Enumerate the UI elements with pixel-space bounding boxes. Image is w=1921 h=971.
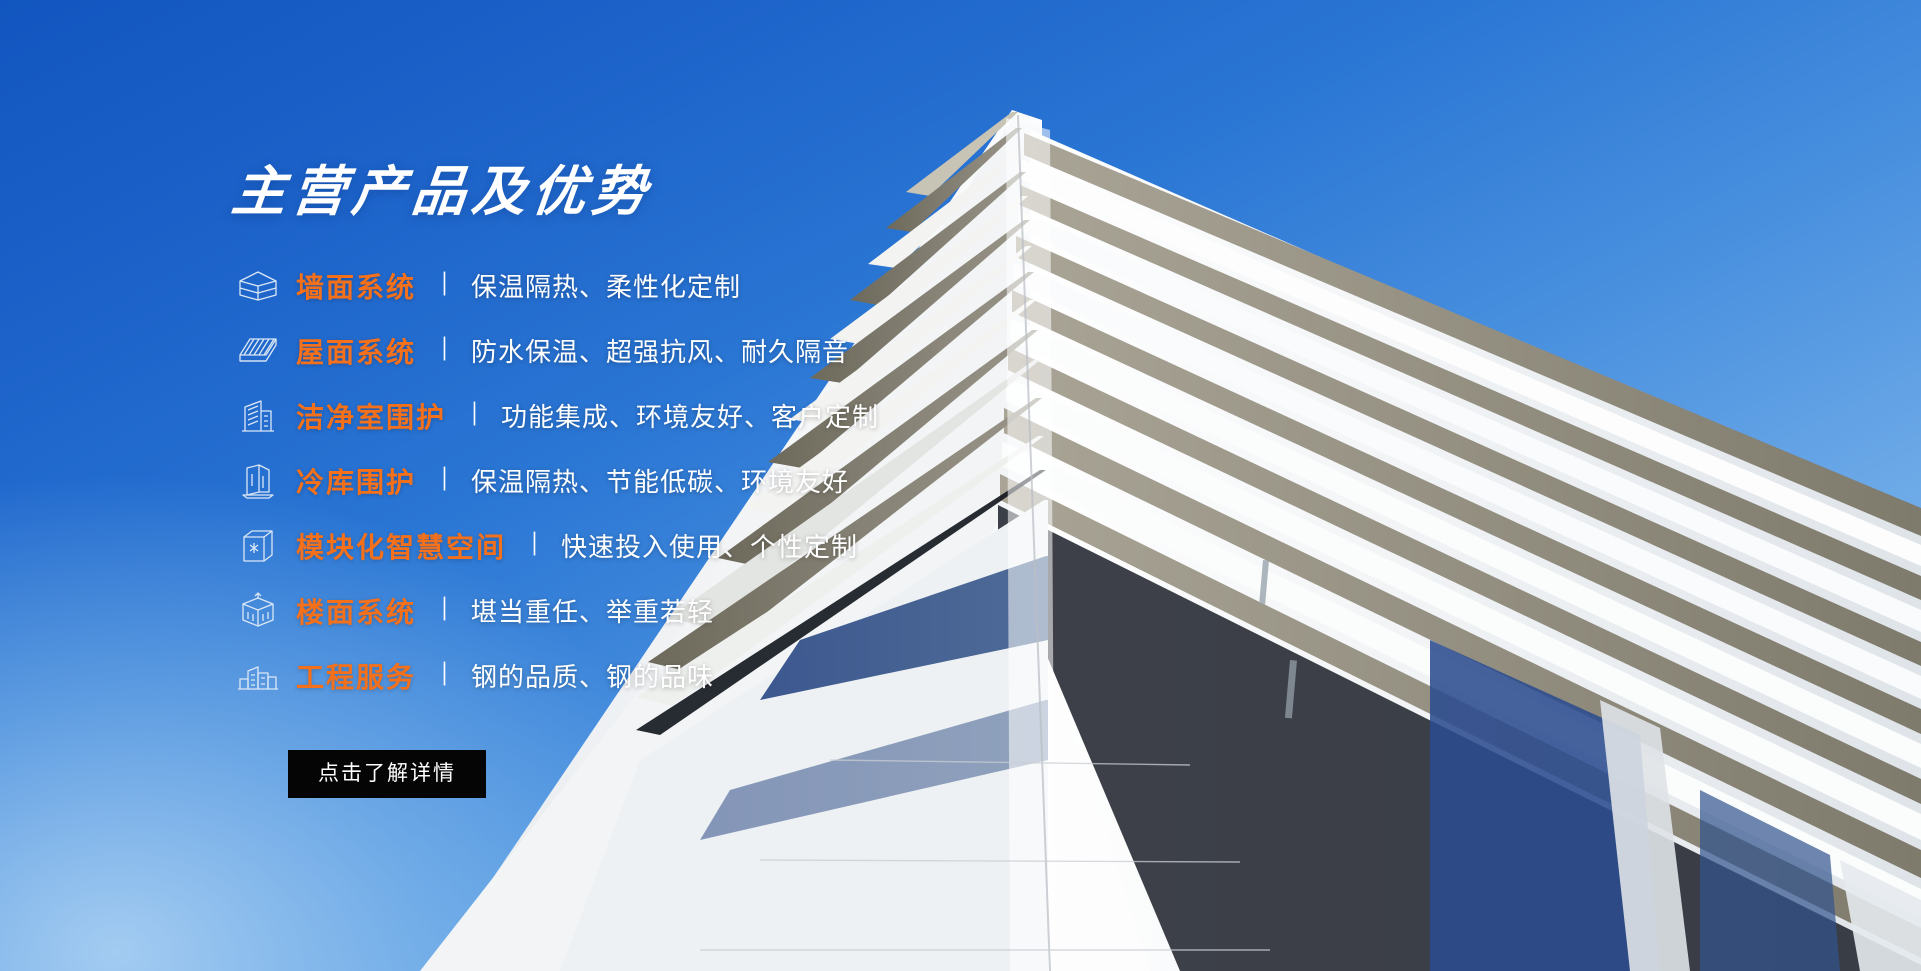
- feature-description: 钢的品质、钢的品味: [471, 657, 714, 694]
- page-title: 主营产品及优势: [229, 165, 1335, 219]
- feature-separator: 丨: [528, 533, 542, 558]
- feature-row-floor-system[interactable]: 楼面系统 丨 堪当重任、举重若轻: [232, 578, 1332, 643]
- cleanroom-icon: [232, 395, 284, 437]
- feature-separator: 丨: [438, 468, 452, 493]
- feature-separator: 丨: [438, 663, 452, 688]
- feature-row-modular-space[interactable]: 模块化智慧空间 丨 快速投入使用、个性定制: [232, 513, 1332, 578]
- feature-row-roof-system[interactable]: 屋面系统 丨 防水保温、超强抗风、耐久隔音: [232, 318, 1332, 383]
- feature-description: 快速投入使用、个性定制: [561, 527, 858, 564]
- feature-name: 模块化智慧空间: [296, 526, 506, 566]
- feature-separator: 丨: [468, 403, 482, 428]
- feature-description: 功能集成、环境友好、客户定制: [501, 397, 879, 434]
- cold-storage-icon: [232, 460, 284, 502]
- feature-name: 冷库围护: [296, 461, 416, 501]
- learn-more-button[interactable]: 点击了解详情: [288, 750, 486, 798]
- feature-separator: 丨: [438, 338, 452, 363]
- feature-name: 洁净室围护: [296, 396, 446, 436]
- feature-row-cold-storage[interactable]: 冷库围护 丨 保温隔热、节能低碳、环境友好: [232, 448, 1332, 513]
- roof-panel-icon: [232, 330, 284, 372]
- feature-description: 堪当重任、举重若轻: [471, 592, 714, 629]
- feature-separator: 丨: [438, 598, 452, 623]
- floor-system-icon: [232, 590, 284, 632]
- wall-panel-icon: [232, 265, 284, 307]
- engineering-service-icon: [232, 655, 284, 697]
- modular-space-icon: [232, 525, 284, 567]
- feature-row-engineering-service[interactable]: 工程服务 丨 钢的品质、钢的品味: [232, 643, 1332, 708]
- feature-name: 屋面系统: [296, 331, 416, 371]
- banner-content: 主营产品及优势 墙面系统 丨 保温隔热、柔性化定制: [232, 165, 1332, 798]
- product-feature-list: 墙面系统 丨 保温隔热、柔性化定制 屋面系统 丨 防水保温、超强抗风、耐久隔音: [232, 253, 1332, 708]
- feature-name: 墙面系统: [296, 266, 416, 306]
- feature-name: 工程服务: [296, 656, 416, 696]
- feature-description: 防水保温、超强抗风、耐久隔音: [471, 332, 849, 369]
- feature-row-cleanroom[interactable]: 洁净室围护 丨 功能集成、环境友好、客户定制: [232, 383, 1332, 448]
- feature-description: 保温隔热、节能低碳、环境友好: [471, 462, 849, 499]
- feature-name: 楼面系统: [296, 591, 416, 631]
- feature-separator: 丨: [438, 273, 452, 298]
- feature-row-wall-system[interactable]: 墙面系统 丨 保温隔热、柔性化定制: [232, 253, 1332, 318]
- hero-banner: 主营产品及优势 墙面系统 丨 保温隔热、柔性化定制: [0, 0, 1921, 971]
- feature-description: 保温隔热、柔性化定制: [471, 267, 741, 304]
